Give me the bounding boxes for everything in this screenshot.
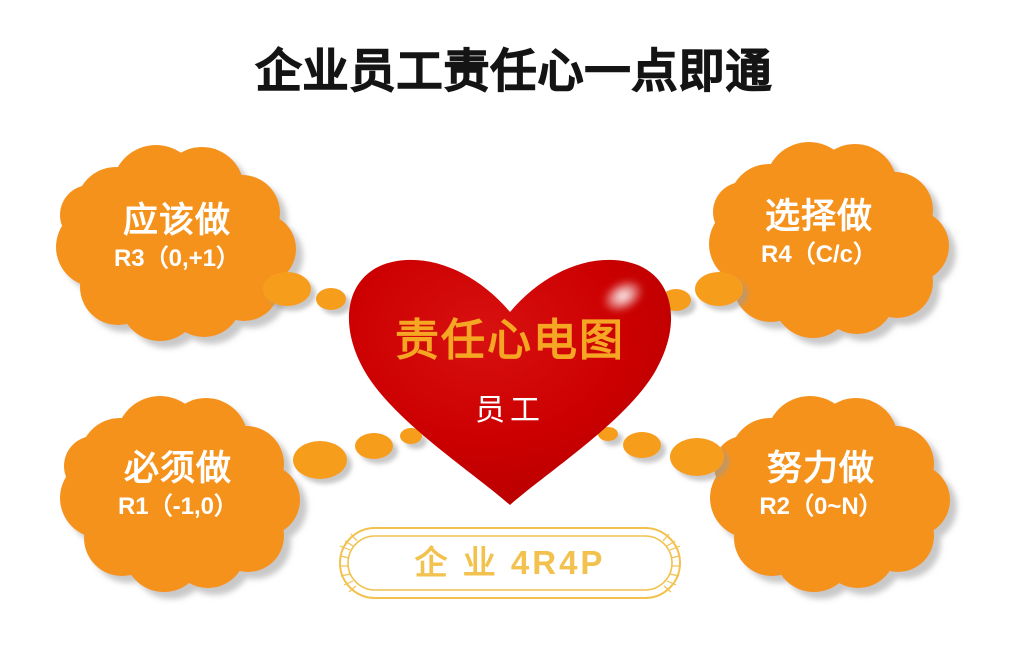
- poster-canvas: 企业员工责任心一点即通: [0, 0, 1028, 667]
- cloud-top-left[interactable]: [56, 145, 296, 341]
- thought-dots-bottom-right: [598, 427, 724, 476]
- cloud-bottom-right[interactable]: [710, 396, 950, 592]
- heart-shape[interactable]: [349, 260, 671, 505]
- thought-dot: [263, 272, 311, 306]
- cloud-bottom-left[interactable]: [60, 396, 300, 592]
- thought-dot: [355, 433, 393, 459]
- cloud-top-right[interactable]: [709, 142, 949, 338]
- footer-badge[interactable]: [340, 528, 680, 598]
- diagram-artwork: [0, 0, 1028, 667]
- thought-dot: [670, 438, 724, 476]
- badge-inner-border: [348, 536, 672, 590]
- thought-dot: [293, 441, 347, 479]
- thought-dot: [623, 432, 661, 458]
- thought-dot: [316, 288, 346, 310]
- thought-dot: [695, 272, 743, 306]
- thought-dots-bottom-left: [293, 428, 422, 479]
- badge-outer-border: [340, 528, 680, 598]
